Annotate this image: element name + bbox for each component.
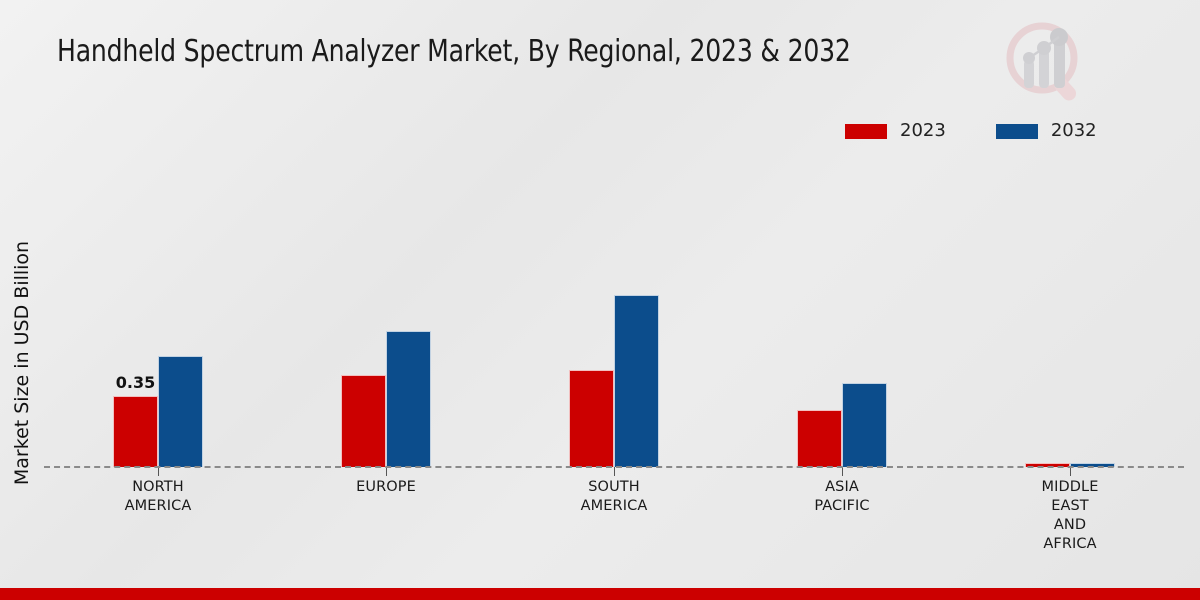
bar-group-middle-east-and-africa: [956, 150, 1184, 467]
x-label-line: AMERICA: [44, 497, 272, 516]
footer-accent-bar: [0, 588, 1200, 600]
legend-label-2032: 2032: [1051, 122, 1097, 140]
bar-2032-north-america[interactable]: [158, 356, 203, 467]
magnifier-bar-chart-logo-icon: [996, 14, 1092, 116]
bar-group-europe: [272, 150, 500, 467]
x-label-line: EUROPE: [272, 478, 500, 497]
bar-2023-north-america[interactable]: 0.35: [113, 396, 158, 467]
chart-canvas: Handheld Spectrum Analyzer Market, By Re…: [0, 0, 1200, 600]
plot-area: 0.35: [44, 150, 1184, 467]
page-title: Handheld Spectrum Analyzer Market, By Re…: [57, 34, 851, 69]
x-label-line: ASIA: [728, 478, 956, 497]
x-axis-tick: [614, 467, 615, 476]
bar-2023-asia-pacific[interactable]: [797, 410, 842, 467]
legend-label-2023: 2023: [900, 122, 946, 140]
x-axis-label-middle-east-and-africa: MIDDLE EAST AND AFRICA: [956, 478, 1184, 555]
bar-2023-south-america[interactable]: [569, 370, 614, 467]
x-axis-tick: [158, 467, 159, 476]
legend-item-2032[interactable]: 2032: [996, 122, 1097, 140]
bar-2032-europe[interactable]: [386, 331, 431, 467]
x-axis-label-north-america: NORTH AMERICA: [44, 478, 272, 555]
x-label-line: AND: [956, 516, 1184, 535]
bar-value-label: 0.35: [116, 373, 155, 392]
x-label-line: NORTH: [44, 478, 272, 497]
bar-group-asia-pacific: [728, 150, 956, 467]
bar-group-south-america: [500, 150, 728, 467]
x-axis-tick: [386, 467, 387, 476]
x-axis-labels: NORTH AMERICA EUROPE SOUTH AMERICA ASIA …: [44, 478, 1184, 555]
bar-group-north-america: 0.35: [44, 150, 272, 467]
y-axis-label: Market Size in USD Billion: [11, 183, 33, 543]
x-axis-label-south-america: SOUTH AMERICA: [500, 478, 728, 555]
x-axis-label-europe: EUROPE: [272, 478, 500, 555]
x-axis-tick: [1070, 467, 1071, 476]
legend-swatch-2032: [996, 124, 1038, 139]
x-label-line: EAST: [956, 497, 1184, 516]
x-label-line: PACIFIC: [728, 497, 956, 516]
x-label-line: AMERICA: [500, 497, 728, 516]
x-label-line: AFRICA: [956, 535, 1184, 554]
x-axis-tick: [842, 467, 843, 476]
x-axis-baseline: [44, 466, 1184, 468]
legend-item-2023[interactable]: 2023: [845, 122, 946, 140]
x-label-line: MIDDLE: [956, 478, 1184, 497]
bar-2023-europe[interactable]: [341, 375, 386, 467]
bar-2032-south-america[interactable]: [614, 295, 659, 467]
x-axis-label-asia-pacific: ASIA PACIFIC: [728, 478, 956, 555]
legend-swatch-2023: [845, 124, 887, 139]
chart-legend: 2023 2032: [845, 122, 1097, 140]
x-label-line: SOUTH: [500, 478, 728, 497]
bar-2032-asia-pacific[interactable]: [842, 383, 887, 467]
